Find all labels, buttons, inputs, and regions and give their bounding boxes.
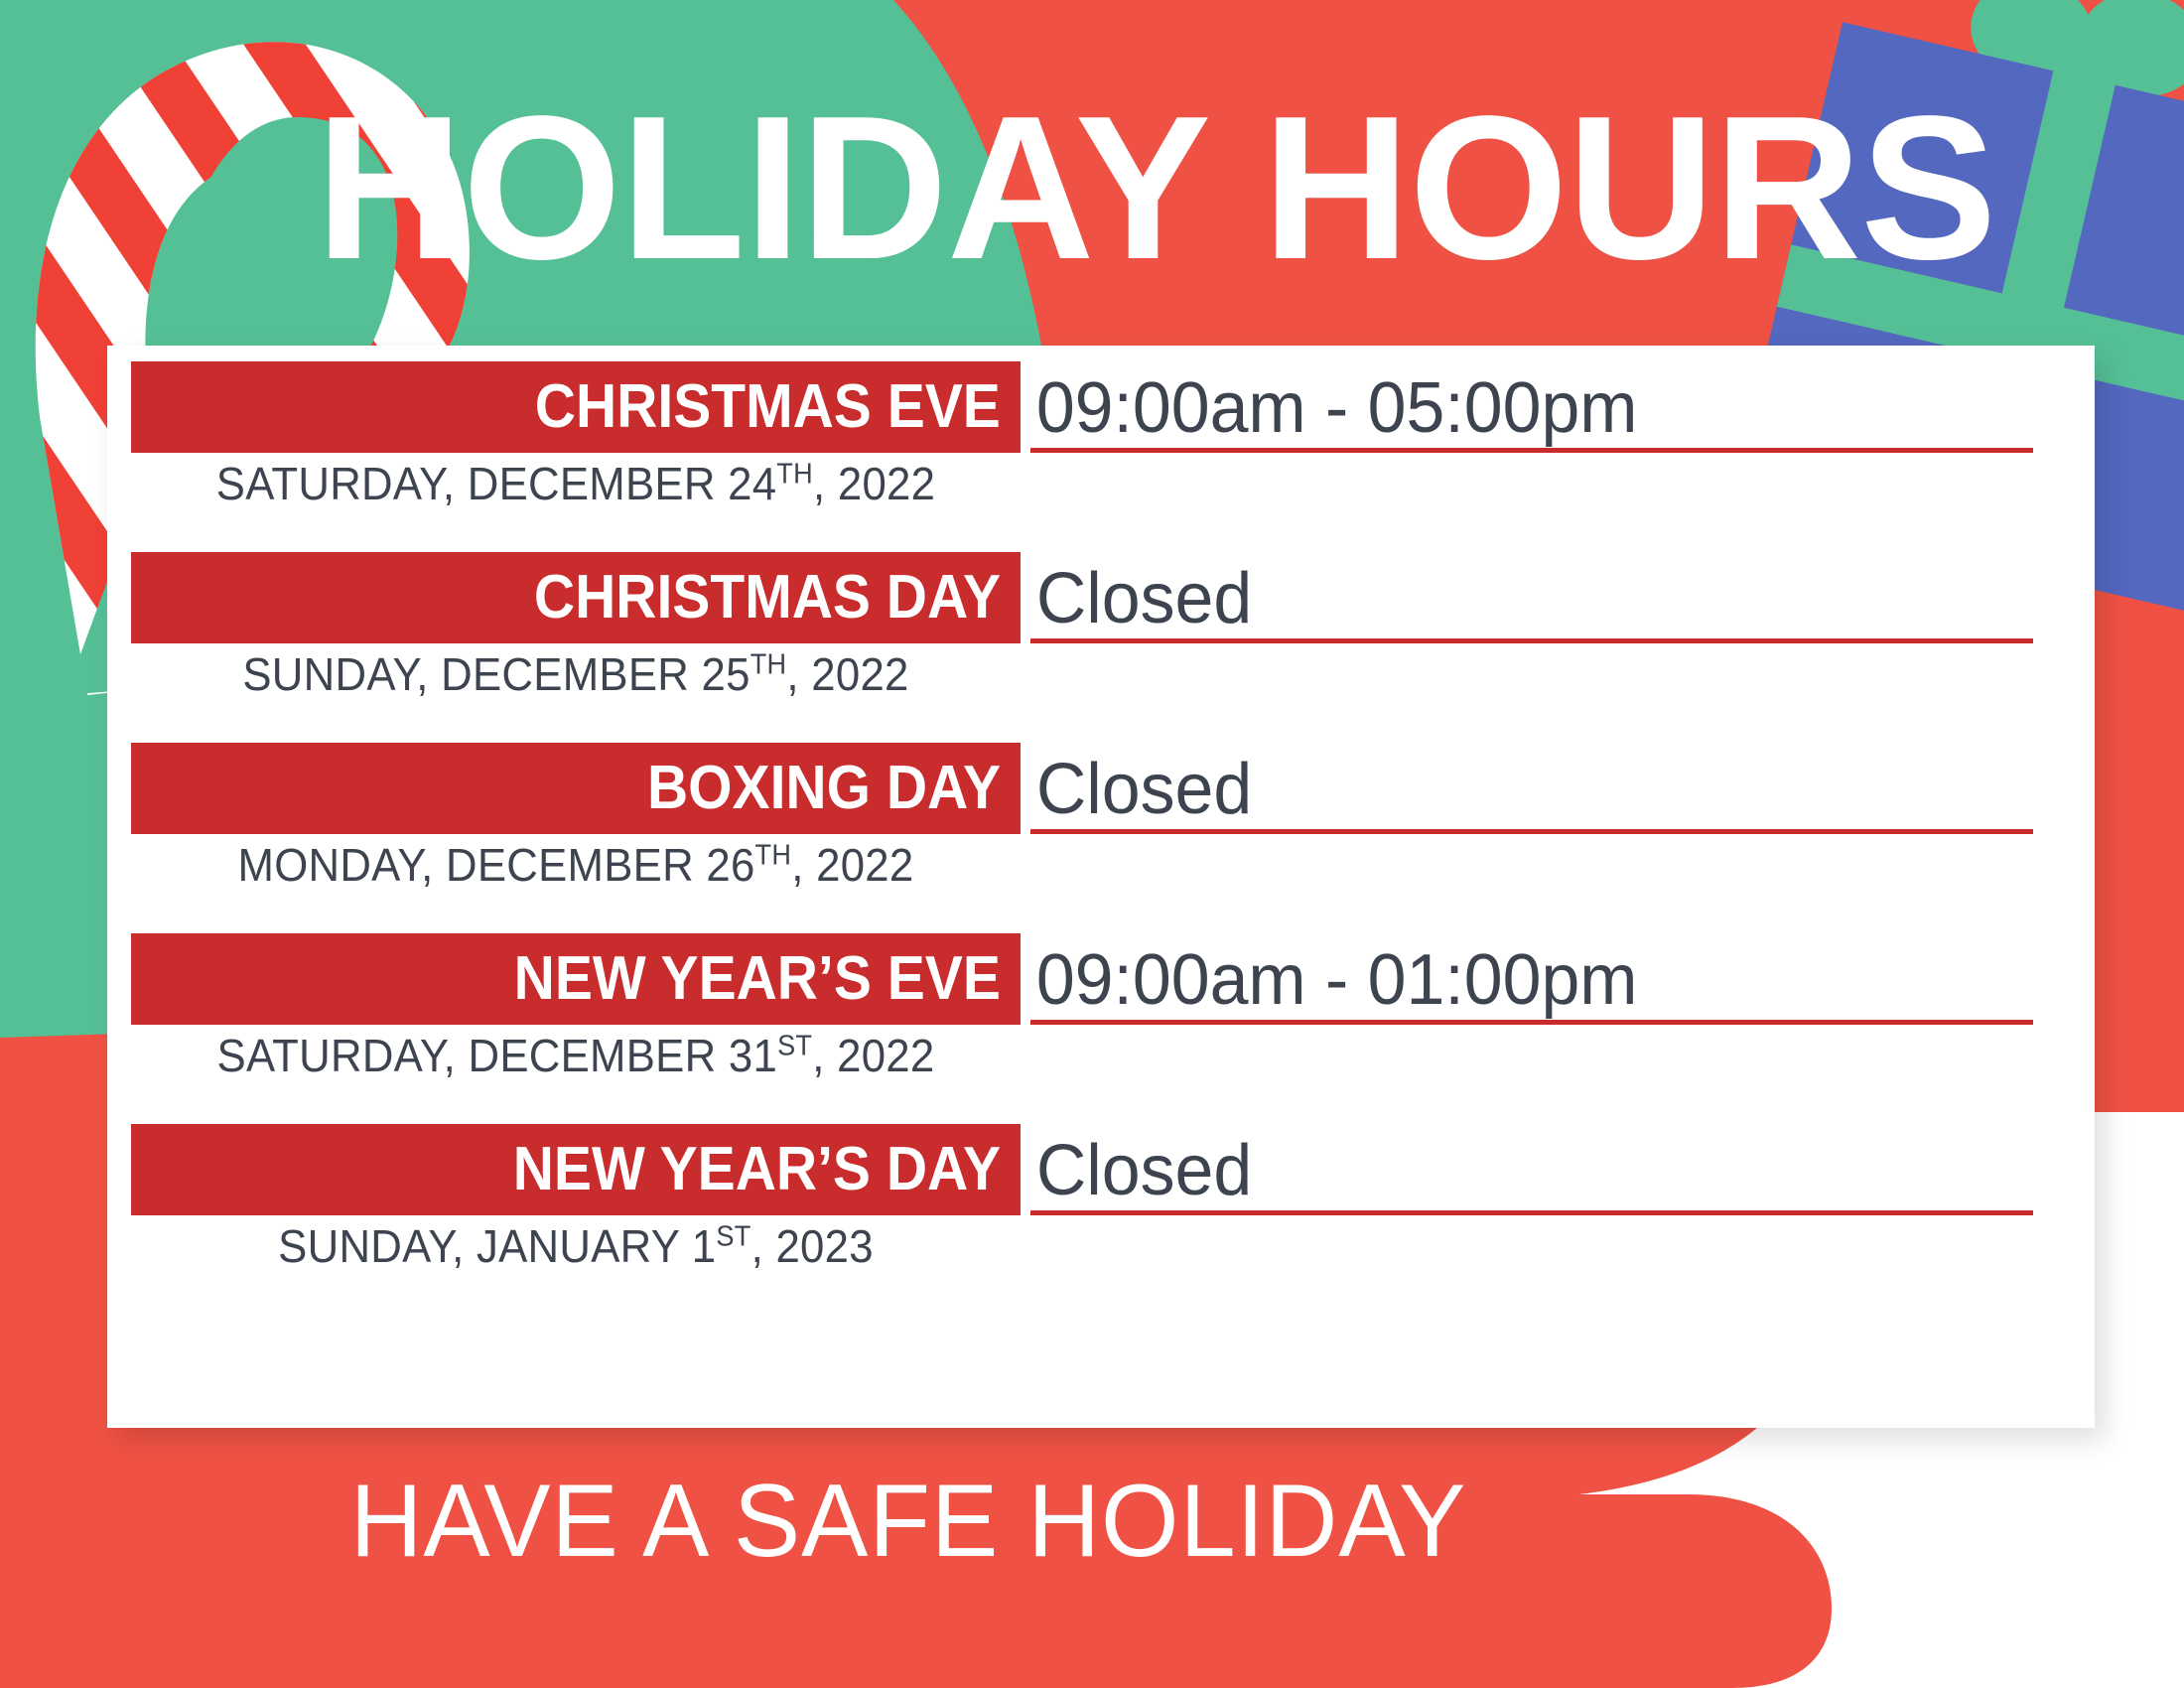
day-name: NEW YEAR’S EVE	[514, 948, 1001, 1010]
hours-text: Closed	[1030, 750, 1252, 829]
day-date-ordinal: ST	[777, 1031, 812, 1062]
day-name: NEW YEAR’S DAY	[513, 1139, 1001, 1200]
day-date-main: SUNDAY, DECEMBER 25	[242, 648, 750, 700]
day-date: MONDAY, DECEMBER 26TH, 2022	[153, 840, 998, 890]
day-date-ordinal: TH	[751, 649, 787, 681]
day-label-band: NEW YEAR’S DAY	[131, 1124, 1021, 1215]
hours-text: Closed	[1030, 559, 1252, 638]
hours-cell: 09:00am - 05:00pm	[1030, 361, 2033, 453]
day-date: SATURDAY, DECEMBER 31ST, 2022	[153, 1031, 998, 1080]
hours-rows-container: CHRISTMAS EVE 09:00am - 05:00pm SATURDAY…	[107, 346, 2095, 1428]
day-date-main: MONDAY, DECEMBER 26	[238, 839, 755, 891]
day-label-band: CHRISTMAS DAY	[131, 552, 1021, 643]
day-date: SUNDAY, JANUARY 1ST, 2023	[153, 1221, 998, 1271]
page-title: HOLIDAY HOURS	[316, 85, 1904, 290]
day-label-band: BOXING DAY	[131, 743, 1021, 834]
day-name: CHRISTMAS DAY	[534, 567, 1001, 629]
hours-cell: Closed	[1030, 743, 2033, 834]
hours-text: Closed	[1030, 1131, 1252, 1210]
day-date: SATURDAY, DECEMBER 24TH, 2022	[153, 459, 998, 508]
day-date-year: , 2023	[751, 1220, 874, 1272]
day-date-main: SATURDAY, DECEMBER 24	[216, 458, 777, 509]
hours-text: 09:00am - 01:00pm	[1030, 940, 1637, 1020]
hours-card: CHRISTMAS EVE 09:00am - 05:00pm SATURDAY…	[107, 346, 2095, 1428]
hours-cell: 09:00am - 01:00pm	[1030, 933, 2033, 1025]
day-label-band: NEW YEAR’S EVE	[131, 933, 1021, 1025]
day-date-year: , 2022	[812, 1030, 934, 1081]
hours-cell: Closed	[1030, 1124, 2033, 1215]
day-date-ordinal: TH	[776, 459, 813, 491]
holiday-hours-poster: HOLIDAY HOURS CHRISTMAS EVE 09:00am - 05…	[0, 0, 2184, 1688]
day-date-main: SATURDAY, DECEMBER 31	[217, 1030, 778, 1081]
day-date-year: , 2022	[786, 648, 908, 700]
day-date-year: , 2022	[791, 839, 913, 891]
day-date-main: SUNDAY, JANUARY 1	[278, 1220, 716, 1272]
day-name: CHRISTMAS EVE	[535, 376, 1001, 438]
hours-text: 09:00am - 05:00pm	[1030, 368, 1637, 448]
hours-cell: Closed	[1030, 552, 2033, 643]
day-date: SUNDAY, DECEMBER 25TH, 2022	[153, 649, 998, 699]
day-name: BOXING DAY	[647, 758, 1001, 819]
day-date-ordinal: TH	[755, 840, 792, 872]
day-date-ordinal: ST	[716, 1221, 751, 1253]
footer-tagline: HAVE A SAFE HOLIDAY	[27, 1468, 1789, 1575]
day-date-year: , 2022	[813, 458, 935, 509]
day-label-band: CHRISTMAS EVE	[131, 361, 1021, 453]
